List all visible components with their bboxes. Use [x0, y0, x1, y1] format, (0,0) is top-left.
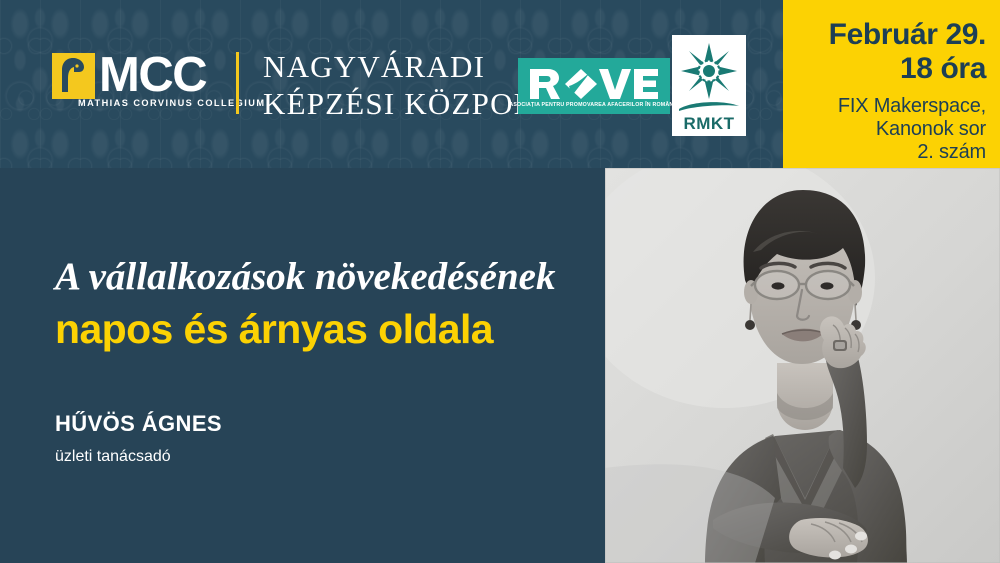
rmkt-star-icon — [680, 42, 738, 100]
header-band: MCC MATHIAS CORVINUS COLLEGIUM NAGYVÁRAD… — [0, 0, 1000, 168]
event-date: Február 29. 18 óra — [793, 18, 986, 86]
event-venue-line2: Kanonok sor — [793, 118, 986, 141]
mcc-letters: MCC — [99, 52, 206, 98]
event-date-line2: 18 óra — [793, 52, 986, 86]
mcc-emblem-icon — [52, 53, 95, 99]
speaker-portrait-photo — [605, 168, 1000, 563]
speaker-role: üzleti tanácsadó — [55, 447, 171, 467]
speaker-name: HŰVÖS ÁGNES — [55, 411, 222, 437]
rmkt-swoosh-icon — [678, 100, 740, 112]
rove-wordmark-icon — [528, 67, 660, 101]
event-venue-line3: 2. szám — [793, 141, 986, 164]
mcc-logo: MCC — [52, 52, 206, 99]
logo-divider — [236, 52, 239, 114]
event-title-line2: napos és árnyas oldala — [55, 306, 493, 352]
rove-tagline: ASOCIAȚIA PENTRU PROMOVAREA AFACERILOR Î… — [509, 102, 679, 108]
rmkt-logo: RMKT — [672, 35, 746, 136]
center-name-line1: NAGYVÁRADI — [263, 48, 557, 85]
rmkt-wordmark: RMKT — [683, 114, 734, 134]
rove-letters-icon — [528, 67, 660, 101]
event-title-line1: A vállalkozások növekedésének — [55, 255, 555, 299]
event-venue-line1: FIX Makerspace, — [793, 95, 986, 118]
event-poster: MCC MATHIAS CORVINUS COLLEGIUM NAGYVÁRAD… — [0, 0, 1000, 563]
date-venue-box: Február 29. 18 óra FIX Makerspace, Kanon… — [783, 0, 1000, 168]
rove-logo: ASOCIAȚIA PENTRU PROMOVAREA AFACERILOR Î… — [518, 58, 670, 114]
event-venue: FIX Makerspace, Kanonok sor 2. szám — [793, 95, 986, 164]
event-date-line1: Február 29. — [793, 18, 986, 52]
corvinus-profile-icon — [61, 58, 85, 92]
portrait-illustration — [605, 168, 1000, 563]
training-center-name: NAGYVÁRADI KÉPZÉSI KÖZPONT — [263, 48, 557, 122]
